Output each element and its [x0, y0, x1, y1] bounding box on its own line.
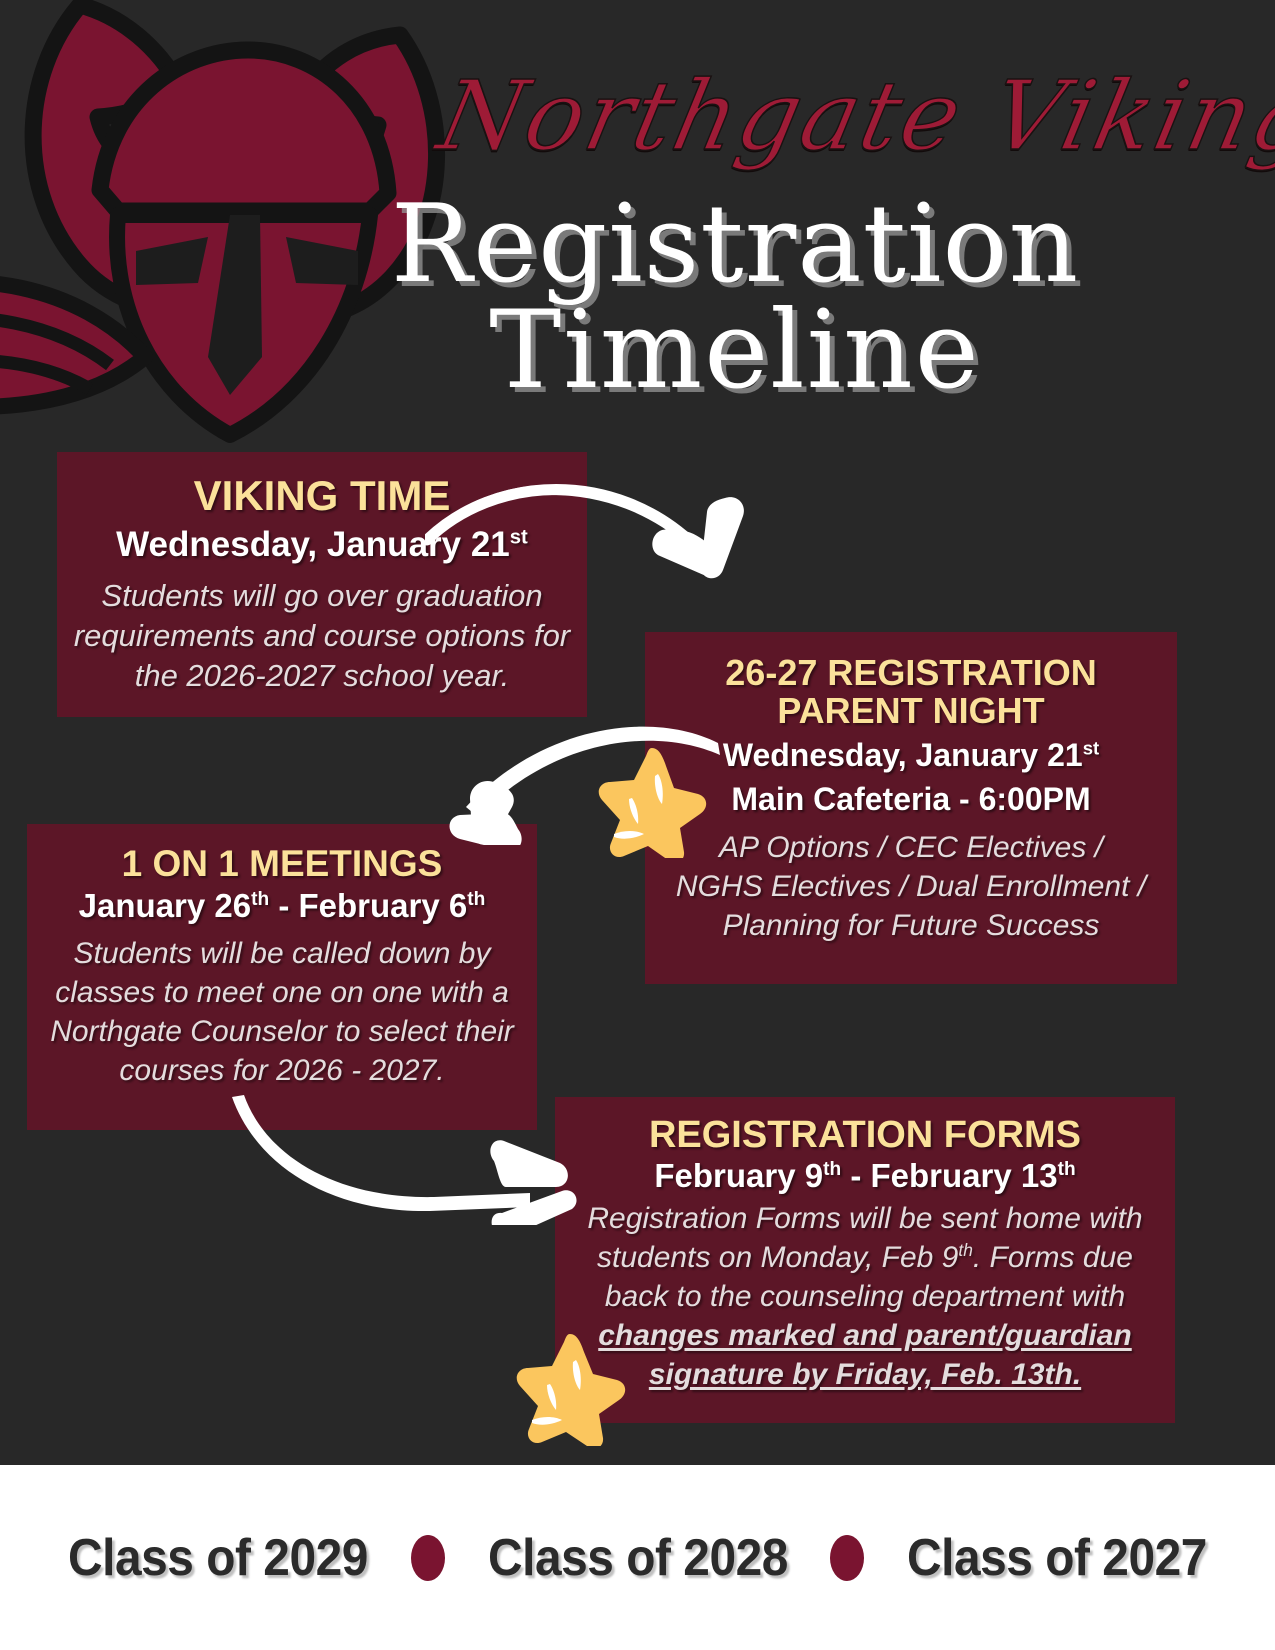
- card-heading: VIKING TIME: [71, 474, 573, 519]
- card-heading-line1: 26-27 REGISTRATION: [725, 652, 1096, 693]
- card-body-line2: NGHS Electives / Dual Enrollment /: [676, 870, 1146, 903]
- timeline-card-one-on-one: 1 ON 1 MEETINGS January 26th - February …: [27, 824, 537, 1130]
- footer-separator-dot-icon: [411, 1535, 445, 1581]
- card-heading: 26-27 REGISTRATION PARENT NIGHT: [657, 654, 1165, 730]
- footer-class-2029: Class of 2029: [68, 1528, 368, 1588]
- card-heading: 1 ON 1 MEETINGS: [37, 844, 527, 883]
- ordinal-suffix: st: [1083, 738, 1100, 759]
- card-date-start: January 26: [79, 887, 251, 924]
- card-date: January 26th - February 6th: [37, 888, 527, 925]
- ordinal-suffix: th: [958, 1240, 973, 1260]
- card-body: Students will go over graduation require…: [71, 576, 573, 697]
- card-date: Wednesday, January 21st: [71, 525, 573, 564]
- ordinal-suffix: th: [251, 889, 269, 910]
- ordinal-suffix: th: [823, 1159, 841, 1180]
- card-body-line1: AP Options / CEC Electives /: [719, 831, 1103, 864]
- timeline-card-viking-time: VIKING TIME Wednesday, January 21st Stud…: [57, 452, 587, 717]
- timeline-card-parent-night: 26-27 REGISTRATION PARENT NIGHT Wednesda…: [645, 632, 1177, 984]
- page-title-line2: Timeline: [255, 298, 1215, 404]
- timeline-card-registration-forms: REGISTRATION FORMS February 9th - Februa…: [555, 1097, 1175, 1423]
- card-body: AP Options / CEC Electives / NGHS Electi…: [657, 828, 1165, 945]
- card-date: February 9th - February 13th: [569, 1158, 1161, 1195]
- card-date-end: February 13: [870, 1157, 1057, 1194]
- page-title: Registration Timeline: [255, 192, 1215, 404]
- card-date-text: Wednesday, January 21: [723, 737, 1083, 773]
- card-date-end: February 6: [299, 887, 468, 924]
- card-body-emphasis: changes marked and parent/guardian signa…: [598, 1319, 1131, 1391]
- card-body: Registration Forms will be sent home wit…: [569, 1199, 1161, 1394]
- card-body: Students will be called down by classes …: [37, 934, 527, 1090]
- poster-root: Northgate Vikings Registration Timeline …: [0, 0, 1275, 1650]
- footer-separator-dot-icon: [830, 1535, 864, 1581]
- ordinal-suffix: th: [1058, 1159, 1076, 1180]
- brand-script-title: Northgate Vikings: [424, 46, 1186, 196]
- footer-class-bar: Class of 2029 Class of 2028 Class of 202…: [0, 1465, 1275, 1650]
- card-body-line3: Planning for Future Success: [723, 909, 1100, 942]
- footer-class-2027: Class of 2027: [907, 1528, 1207, 1588]
- ordinal-suffix: th: [467, 889, 485, 910]
- card-heading-line2: PARENT NIGHT: [777, 690, 1044, 731]
- card-date-text: Wednesday, January 21: [116, 525, 510, 564]
- card-date-separator: -: [269, 887, 298, 924]
- card-heading: REGISTRATION FORMS: [569, 1115, 1161, 1155]
- card-location: Main Cafeteria - 6:00PM: [657, 782, 1165, 818]
- footer-class-2028: Class of 2028: [488, 1528, 788, 1588]
- ordinal-suffix: st: [510, 526, 528, 548]
- card-date-separator: -: [841, 1157, 870, 1194]
- card-date: Wednesday, January 21st: [657, 738, 1165, 774]
- card-date-start: February 9: [654, 1157, 823, 1194]
